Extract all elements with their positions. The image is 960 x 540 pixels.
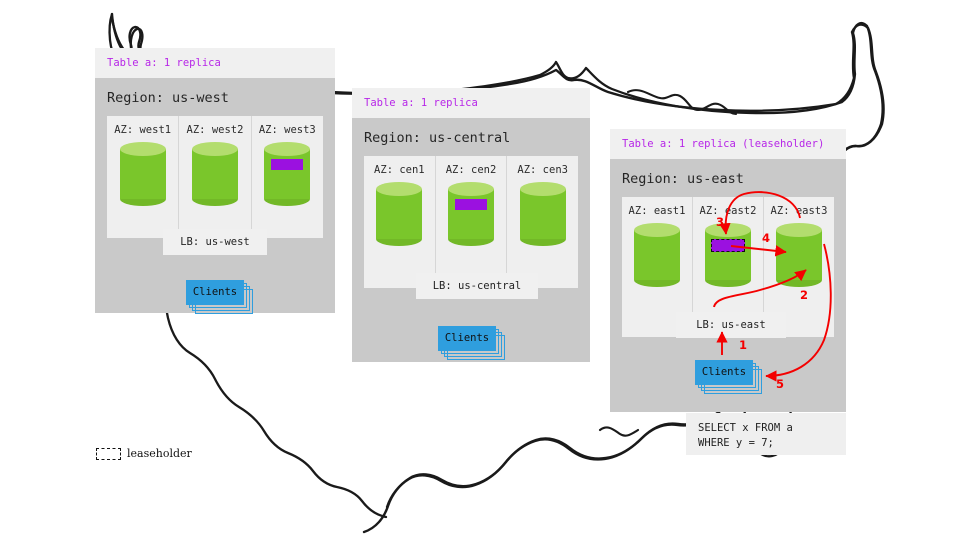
arrow-label-5: 5: [776, 377, 784, 391]
az-cell-cen1[interactable]: AZ: cen1: [364, 156, 436, 288]
arrow-label-4: 4: [762, 231, 770, 245]
node-cylinder-west2[interactable]: [192, 142, 238, 206]
az-label-west2: AZ: west2: [179, 124, 250, 136]
arrow-label-2: 2: [800, 288, 808, 302]
az-label-west3: AZ: west3: [252, 124, 323, 136]
cylinder-body: [120, 149, 166, 199]
cylinder-body: [448, 189, 494, 239]
cylinder-top: [376, 182, 422, 196]
node-cylinder-east2[interactable]: [705, 223, 751, 287]
clients-stack-us-west[interactable]: Clients: [186, 280, 244, 305]
cylinder-body: [705, 230, 751, 280]
node-cylinder-west3[interactable]: [264, 142, 310, 206]
arrow-label-1: 1: [739, 338, 747, 352]
cylinder-body: [376, 189, 422, 239]
load-balancer-us-west[interactable]: LB: us-west: [163, 229, 267, 255]
az-strip-us-central: AZ: cen1 AZ: cen2: [364, 156, 578, 288]
clients-label-us-central[interactable]: Clients: [438, 326, 496, 351]
az-cell-cen3[interactable]: AZ: cen3: [507, 156, 578, 288]
az-label-east1: AZ: east1: [622, 205, 692, 217]
panel-header-us-west: Table a: 1 replica: [95, 48, 335, 78]
az-cell-west2[interactable]: AZ: west2: [179, 116, 251, 238]
node-cylinder-east3[interactable]: [776, 223, 822, 287]
replica-badge-west3: [271, 159, 303, 170]
cylinder-body: [634, 230, 680, 280]
region-title-us-east: Region: us-east: [610, 159, 846, 197]
clients-label-us-east[interactable]: Clients: [695, 360, 753, 385]
panel-header-us-east: Table a: 1 replica (leaseholder): [610, 129, 846, 159]
node-cylinder-east1[interactable]: [634, 223, 680, 287]
node-cylinder-cen1[interactable]: [376, 182, 422, 246]
cylinder-top: [776, 223, 822, 237]
arrow-label-3: 3: [716, 215, 724, 229]
region-panel-us-central: Table a: 1 replica Region: us-central AZ…: [352, 88, 590, 362]
cylinder-top: [264, 142, 310, 156]
cylinder-top: [705, 223, 751, 237]
cylinder-body: [776, 230, 822, 280]
node-cylinder-west1[interactable]: [120, 142, 166, 206]
sql-query-box: SELECT x FROM a WHERE y = 7;: [686, 413, 846, 455]
cylinder-top: [120, 142, 166, 156]
cylinder-top: [448, 182, 494, 196]
node-cylinder-cen2[interactable]: [448, 182, 494, 246]
region-panel-us-east: Table a: 1 replica (leaseholder) Region:…: [610, 129, 846, 412]
region-title-us-central: Region: us-central: [352, 118, 590, 156]
az-label-cen1: AZ: cen1: [364, 164, 435, 176]
az-strip-us-west: AZ: west1 AZ: west2 AZ: [107, 116, 323, 238]
panel-header-us-central: Table a: 1 replica: [352, 88, 590, 118]
az-label-east2: AZ: east2: [693, 205, 763, 217]
diagram-canvas: Table a: 1 replica Region: us-west AZ: w…: [0, 0, 960, 540]
clients-stack-us-east[interactable]: Clients: [695, 360, 753, 385]
region-title-us-west: Region: us-west: [95, 78, 335, 116]
legend-label-leaseholder: leaseholder: [127, 447, 192, 460]
az-label-west1: AZ: west1: [107, 124, 178, 136]
node-cylinder-cen3[interactable]: [520, 182, 566, 246]
cylinder-body: [520, 189, 566, 239]
cylinder-top: [634, 223, 680, 237]
az-label-cen3: AZ: cen3: [507, 164, 578, 176]
cylinder-body: [264, 149, 310, 199]
az-label-cen2: AZ: cen2: [436, 164, 507, 176]
replica-badge-cen2: [455, 199, 487, 210]
load-balancer-us-east[interactable]: LB: us-east: [676, 312, 786, 338]
panel-body-us-west: Region: us-west AZ: west1 AZ: west2: [95, 78, 335, 313]
az-cell-west1[interactable]: AZ: west1: [107, 116, 179, 238]
clients-stack-us-central[interactable]: Clients: [438, 326, 496, 351]
az-cell-west3[interactable]: AZ: west3: [252, 116, 323, 238]
az-cell-cen2[interactable]: AZ: cen2: [436, 156, 508, 288]
cylinder-body: [192, 149, 238, 199]
cylinder-top: [520, 182, 566, 196]
load-balancer-us-central[interactable]: LB: us-central: [416, 273, 538, 299]
clients-label-us-west[interactable]: Clients: [186, 280, 244, 305]
replica-badge-east2-leaseholder: [711, 239, 745, 252]
cylinder-top: [192, 142, 238, 156]
az-label-east3: AZ: east3: [764, 205, 834, 217]
dashed-rect-icon: [96, 448, 121, 460]
legend: leaseholder: [96, 447, 192, 460]
region-panel-us-west: Table a: 1 replica Region: us-west AZ: w…: [95, 48, 335, 313]
